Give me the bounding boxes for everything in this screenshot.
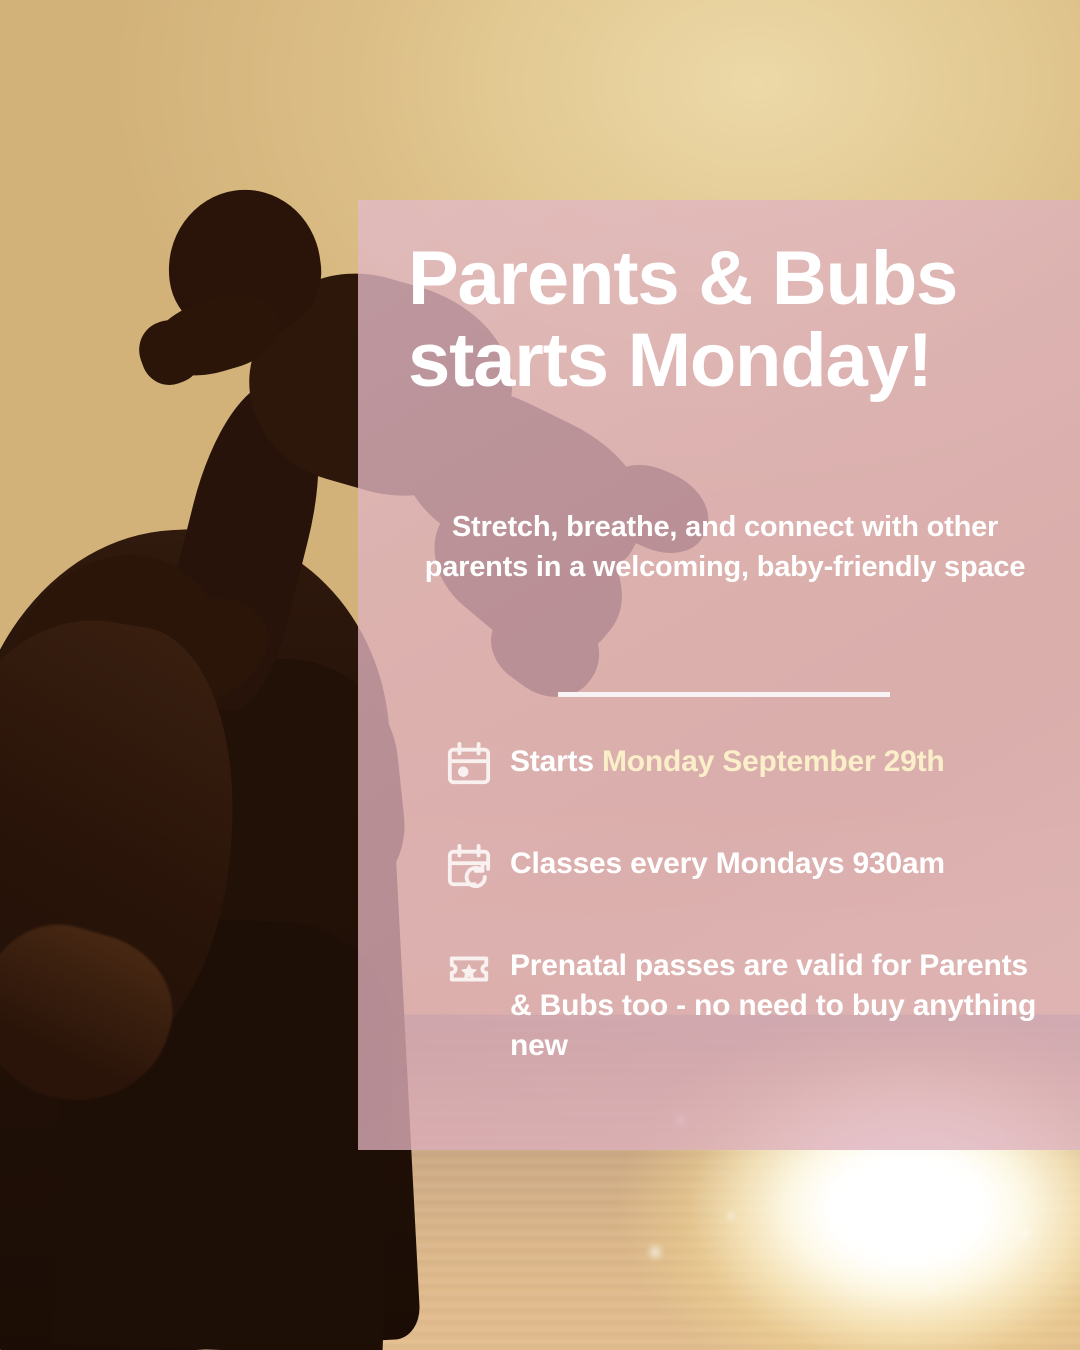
promo-poster: Parents & Bubs starts Monday! Stretch, b…: [0, 0, 1080, 1350]
list-item: Classes every Mondays 930am: [446, 842, 1046, 890]
detail-label-plain: Starts: [510, 745, 602, 778]
ticket-star-icon: [446, 946, 492, 992]
detail-label-accent: Monday September 29th: [602, 745, 945, 778]
divider-rule: [558, 692, 890, 697]
list-item: Starts Monday September 29th: [446, 740, 1046, 788]
calendar-repeat-icon: [446, 844, 492, 890]
content-panel: Parents & Bubs starts Monday! Stretch, b…: [358, 200, 1080, 1150]
calendar-icon: [446, 742, 492, 788]
panel-content: Parents & Bubs starts Monday! Stretch, b…: [358, 200, 1080, 1150]
list-item: Prenatal passes are valid for Parents & …: [446, 944, 1046, 1067]
subtitle-text: Stretch, breathe, and connect with other…: [408, 507, 1042, 587]
details-list: Starts Monday September 29th: [446, 740, 1046, 1067]
detail-pass-validity: Prenatal passes are valid for Parents & …: [510, 944, 1046, 1067]
detail-schedule: Classes every Mondays 930am: [510, 842, 945, 884]
page-title: Parents & Bubs starts Monday!: [408, 238, 1044, 402]
detail-start-date: Starts Monday September 29th: [510, 740, 945, 782]
detail-label-plain: Classes every Mondays 930am: [510, 847, 945, 880]
detail-label-plain: Prenatal passes are valid for Parents & …: [510, 949, 1036, 1062]
